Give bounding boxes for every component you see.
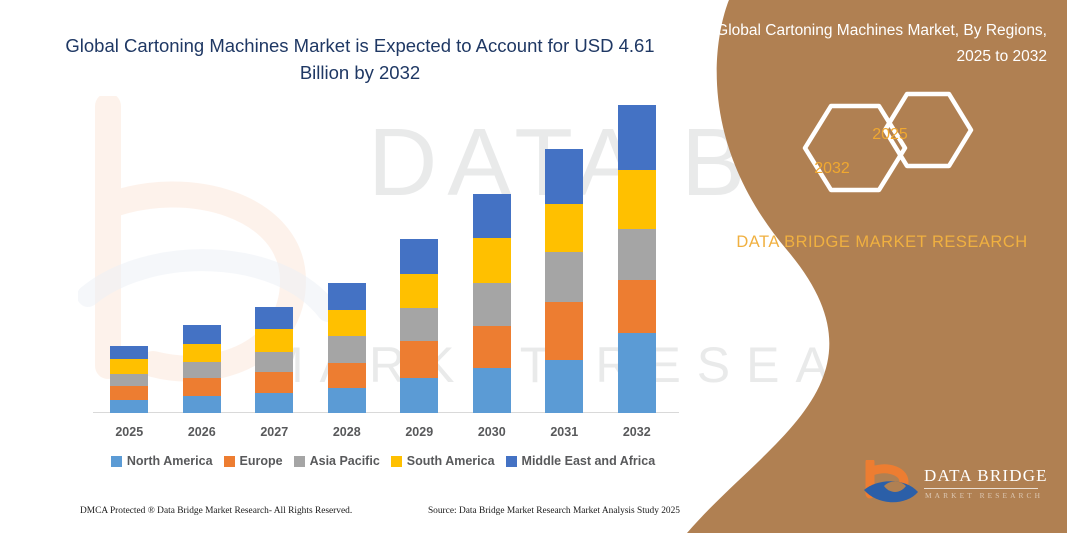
- x-axis-label: 2030: [456, 425, 528, 439]
- legend-swatch-icon: [294, 456, 305, 467]
- stacked-bar-chart: [93, 100, 673, 413]
- legend-swatch-icon: [224, 456, 235, 467]
- legend-item[interactable]: South America: [391, 454, 495, 468]
- bar-segment: [400, 239, 438, 275]
- bar-segment: [255, 329, 293, 351]
- bar-column: [183, 325, 221, 413]
- data-bridge-logo: DATA BRIDGE MARKET RESEARCH: [862, 460, 1052, 514]
- chart-legend: North AmericaEuropeAsia PacificSouth Ame…: [93, 454, 673, 468]
- bar-segment: [473, 283, 511, 325]
- bar-segment: [328, 363, 366, 389]
- bar-segment: [110, 374, 148, 386]
- bar-segment: [400, 378, 438, 413]
- bar-segment: [400, 308, 438, 342]
- logo-subtitle: MARKET RESEARCH: [925, 491, 1043, 500]
- legend-swatch-icon: [506, 456, 517, 467]
- legend-label: North America: [127, 454, 213, 468]
- bar-segment: [328, 388, 366, 413]
- brand-name: DATA BRIDGE MARKET RESEARCH: [717, 228, 1047, 256]
- bar-segment: [255, 352, 293, 372]
- bar-segment: [255, 393, 293, 413]
- bar-segment: [110, 359, 148, 374]
- legend-label: South America: [407, 454, 495, 468]
- bar-segment: [618, 229, 656, 280]
- logo-title: DATA BRIDGE: [924, 466, 1048, 486]
- bar-segment: [110, 386, 148, 399]
- bar-segment: [473, 238, 511, 284]
- bar-column: [255, 307, 293, 413]
- chart-title: Global Cartoning Machines Market is Expe…: [40, 32, 680, 86]
- bar-segment: [618, 105, 656, 171]
- footer-copyright: DMCA Protected ® Data Bridge Market Rese…: [80, 506, 352, 516]
- x-axis-labels: 20252026202720282029203020312032: [93, 420, 673, 442]
- year-hexagon-group: [787, 90, 1067, 210]
- bar-segment: [473, 368, 511, 413]
- bar-column: [618, 105, 656, 414]
- x-axis-label: 2031: [528, 425, 600, 439]
- x-axis-label: 2025: [93, 425, 165, 439]
- bar-segment: [545, 204, 583, 252]
- bar-column: [473, 194, 511, 413]
- bar-segment: [400, 341, 438, 378]
- x-axis-label: 2027: [238, 425, 310, 439]
- bar-segment: [545, 149, 583, 204]
- bar-column: [110, 346, 148, 413]
- bar-segment: [328, 283, 366, 310]
- bar-segment: [618, 280, 656, 333]
- x-axis-label: 2026: [166, 425, 238, 439]
- bar-segment: [618, 333, 656, 413]
- legend-item[interactable]: Asia Pacific: [294, 454, 380, 468]
- legend-swatch-icon: [391, 456, 402, 467]
- bar-column: [545, 149, 583, 413]
- data-bridge-logo-mark: [862, 460, 920, 510]
- legend-label: Middle East and Africa: [522, 454, 656, 468]
- legend-item[interactable]: Europe: [224, 454, 283, 468]
- bar-segment: [183, 362, 221, 379]
- bar-column: [328, 283, 366, 413]
- x-axis-label: 2032: [601, 425, 673, 439]
- footer-source: Source: Data Bridge Market Research Mark…: [428, 506, 680, 516]
- bar-segment: [183, 396, 221, 413]
- brand-panel-title: Global Cartoning Machines Market, By Reg…: [707, 18, 1047, 70]
- legend-item[interactable]: Middle East and Africa: [506, 454, 656, 468]
- bar-segment: [545, 360, 583, 413]
- bar-segment: [255, 372, 293, 393]
- legend-label: Asia Pacific: [310, 454, 380, 468]
- bar-segment: [545, 302, 583, 360]
- bar-segment: [183, 325, 221, 344]
- legend-item[interactable]: North America: [111, 454, 213, 468]
- bar-segment: [255, 307, 293, 329]
- bar-segment: [400, 274, 438, 308]
- legend-label: Europe: [240, 454, 283, 468]
- bar-segment: [183, 344, 221, 362]
- bar-segment: [328, 336, 366, 363]
- bar-segment: [545, 252, 583, 302]
- bar-segment: [110, 346, 148, 359]
- bar-segment: [110, 400, 148, 413]
- logo-divider: [924, 488, 1038, 489]
- legend-swatch-icon: [111, 456, 122, 467]
- x-axis-label: 2029: [383, 425, 455, 439]
- footer: DMCA Protected ® Data Bridge Market Rese…: [80, 506, 680, 516]
- x-axis-label: 2028: [311, 425, 383, 439]
- infographic-root: DATA BRIDGE MARKET RESEARCH Global Carto…: [0, 0, 1067, 533]
- bar-segment: [183, 378, 221, 396]
- chart-panel: Global Cartoning Machines Market is Expe…: [0, 0, 730, 533]
- bar-column: [400, 239, 438, 413]
- brand-panel: Global Cartoning Machines Market, By Reg…: [667, 0, 1067, 533]
- bar-segment: [473, 326, 511, 368]
- bar-segment: [328, 310, 366, 336]
- hexagon-start-year-label: 2025: [855, 126, 925, 144]
- hexagon-end-year-label: 2032: [797, 160, 867, 178]
- bar-segment: [618, 170, 656, 228]
- bar-segment: [473, 194, 511, 238]
